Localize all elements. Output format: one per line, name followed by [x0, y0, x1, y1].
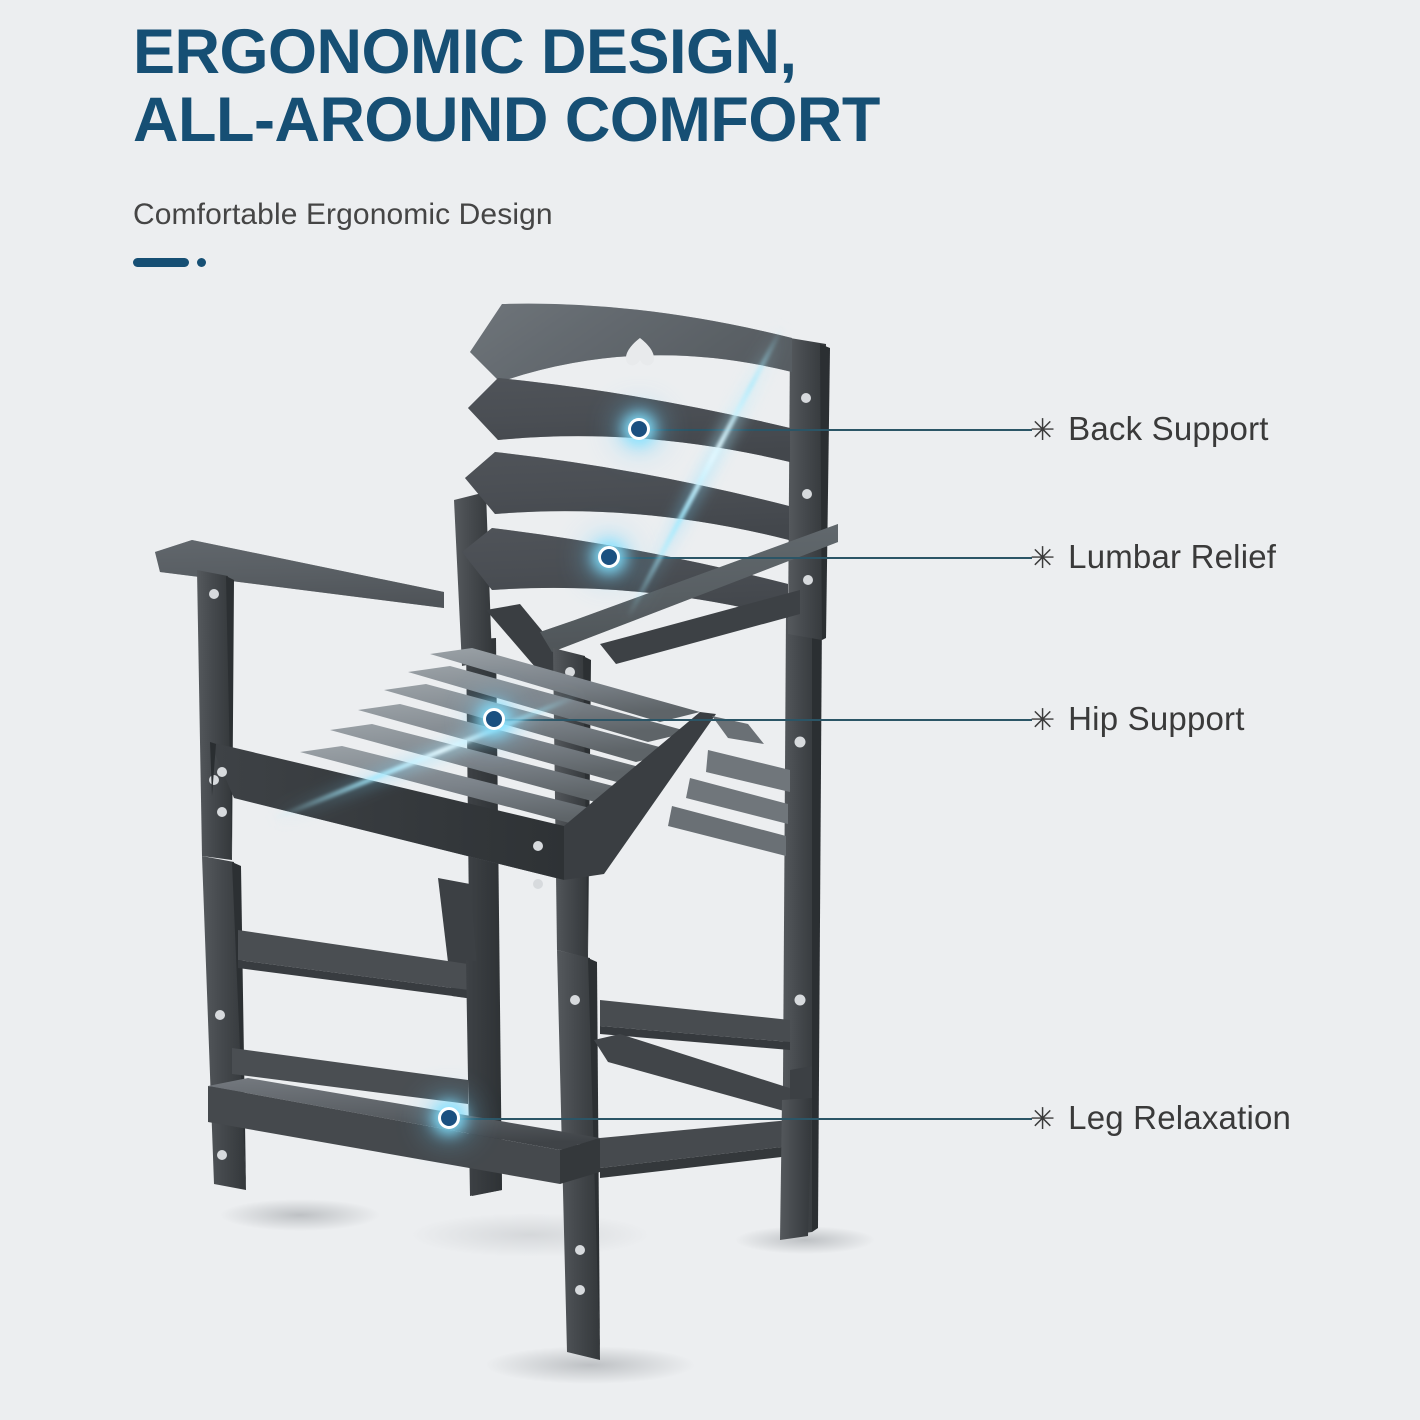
callout-dot-hip-support[interactable] [483, 708, 505, 730]
callout-dot-lumbar-relief[interactable] [598, 546, 620, 568]
callout-dot-back-support[interactable] [628, 418, 650, 440]
connector-line-back-support [642, 429, 1032, 431]
seat [210, 648, 790, 889]
connector-line-leg-relaxation [452, 1118, 1032, 1120]
asterisk-icon: ✳ [1030, 1105, 1055, 1135]
callout-leg-relaxation[interactable]: ✳ Leg Relaxation [1030, 1099, 1291, 1137]
asterisk-icon: ✳ [1030, 544, 1055, 574]
asterisk-icon: ✳ [1030, 416, 1055, 446]
backrest [454, 304, 830, 682]
callout-label: Hip Support [1068, 700, 1244, 738]
connector-line-hip-support [497, 719, 1032, 721]
callout-label: Leg Relaxation [1068, 1099, 1291, 1137]
callout-dot-leg-relaxation[interactable] [438, 1107, 460, 1129]
chair-legs [202, 856, 812, 1360]
callout-label: Back Support [1068, 410, 1269, 448]
callout-back-support[interactable]: ✳ Back Support [1030, 410, 1269, 448]
screw-icon [575, 1245, 585, 1255]
asterisk-icon: ✳ [1030, 706, 1055, 736]
callout-lumbar-relief[interactable]: ✳ Lumbar Relief [1030, 538, 1276, 576]
callout-hip-support[interactable]: ✳ Hip Support [1030, 700, 1245, 738]
connector-line-lumbar-relief [612, 557, 1032, 559]
callout-label: Lumbar Relief [1068, 538, 1276, 576]
floor-shadows [220, 1199, 875, 1384]
